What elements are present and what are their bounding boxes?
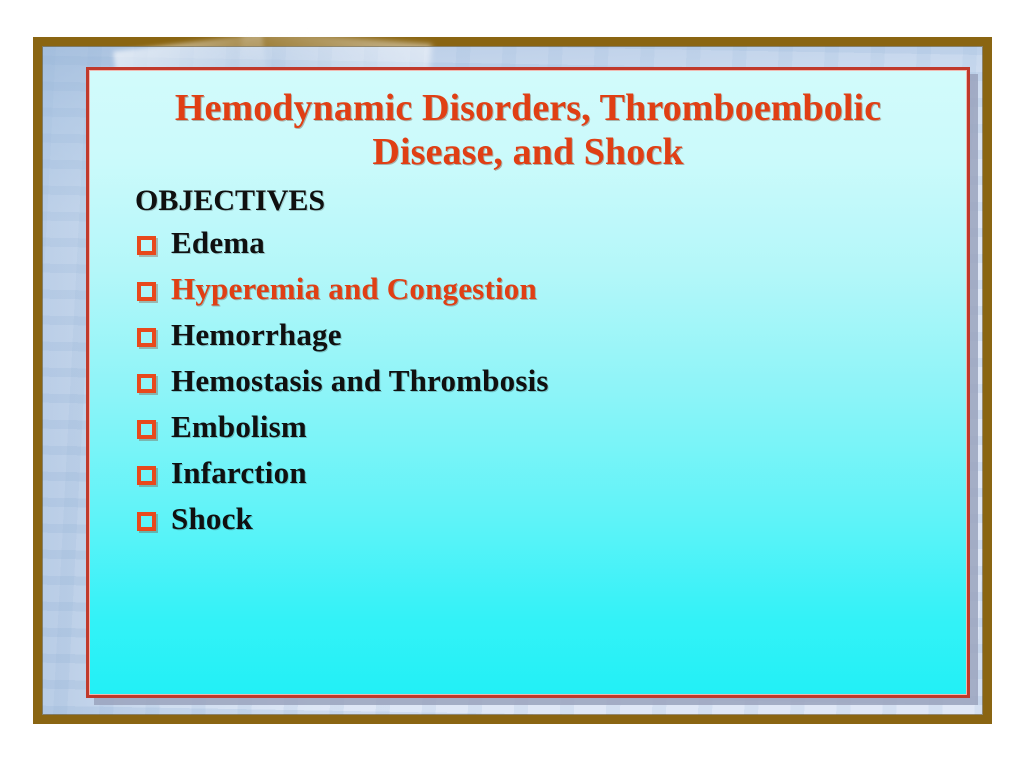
slide-page: Hemodynamic Disorders, Thromboembolic Di… (0, 0, 1024, 768)
slide-title-line-2: Disease, and Shock (372, 131, 683, 173)
list-item-label: Hemorrhage (171, 319, 342, 350)
list-item-label: Edema (171, 227, 265, 258)
list-item-label: Hyperemia and Congestion (171, 273, 537, 304)
list-item-label: Embolism (171, 411, 307, 442)
list-item-label: Shock (171, 503, 253, 534)
hollow-square-bullet-icon (137, 512, 156, 531)
list-item: Shock (89, 503, 967, 534)
objectives-heading: OBJECTIVES (89, 186, 967, 216)
list-item: Hemostasis and Thrombosis (89, 365, 967, 396)
hollow-square-bullet-icon (137, 420, 156, 439)
objectives-block: OBJECTIVES Edema Hyperemia and Congestio… (89, 174, 967, 534)
content-card: Hemodynamic Disorders, Thromboembolic Di… (86, 67, 970, 698)
hollow-square-bullet-icon (137, 282, 156, 301)
hollow-square-bullet-icon (137, 328, 156, 347)
list-item: Hyperemia and Congestion (89, 273, 967, 304)
slide-title: Hemodynamic Disorders, Thromboembolic Di… (89, 70, 967, 174)
hollow-square-bullet-icon (137, 466, 156, 485)
list-item: Edema (89, 227, 967, 258)
list-item: Infarction (89, 457, 967, 488)
hollow-square-bullet-icon (137, 236, 156, 255)
list-item: Hemorrhage (89, 319, 967, 350)
slide-outer-frame: Hemodynamic Disorders, Thromboembolic Di… (33, 37, 992, 724)
list-item-label: Hemostasis and Thrombosis (171, 365, 549, 396)
objectives-list: Edema Hyperemia and Congestion Hemorrhag… (89, 227, 967, 534)
list-item-label: Infarction (171, 457, 307, 488)
hollow-square-bullet-icon (137, 374, 156, 393)
list-item: Embolism (89, 411, 967, 442)
slide-title-line-1: Hemodynamic Disorders, Thromboembolic (175, 87, 881, 129)
